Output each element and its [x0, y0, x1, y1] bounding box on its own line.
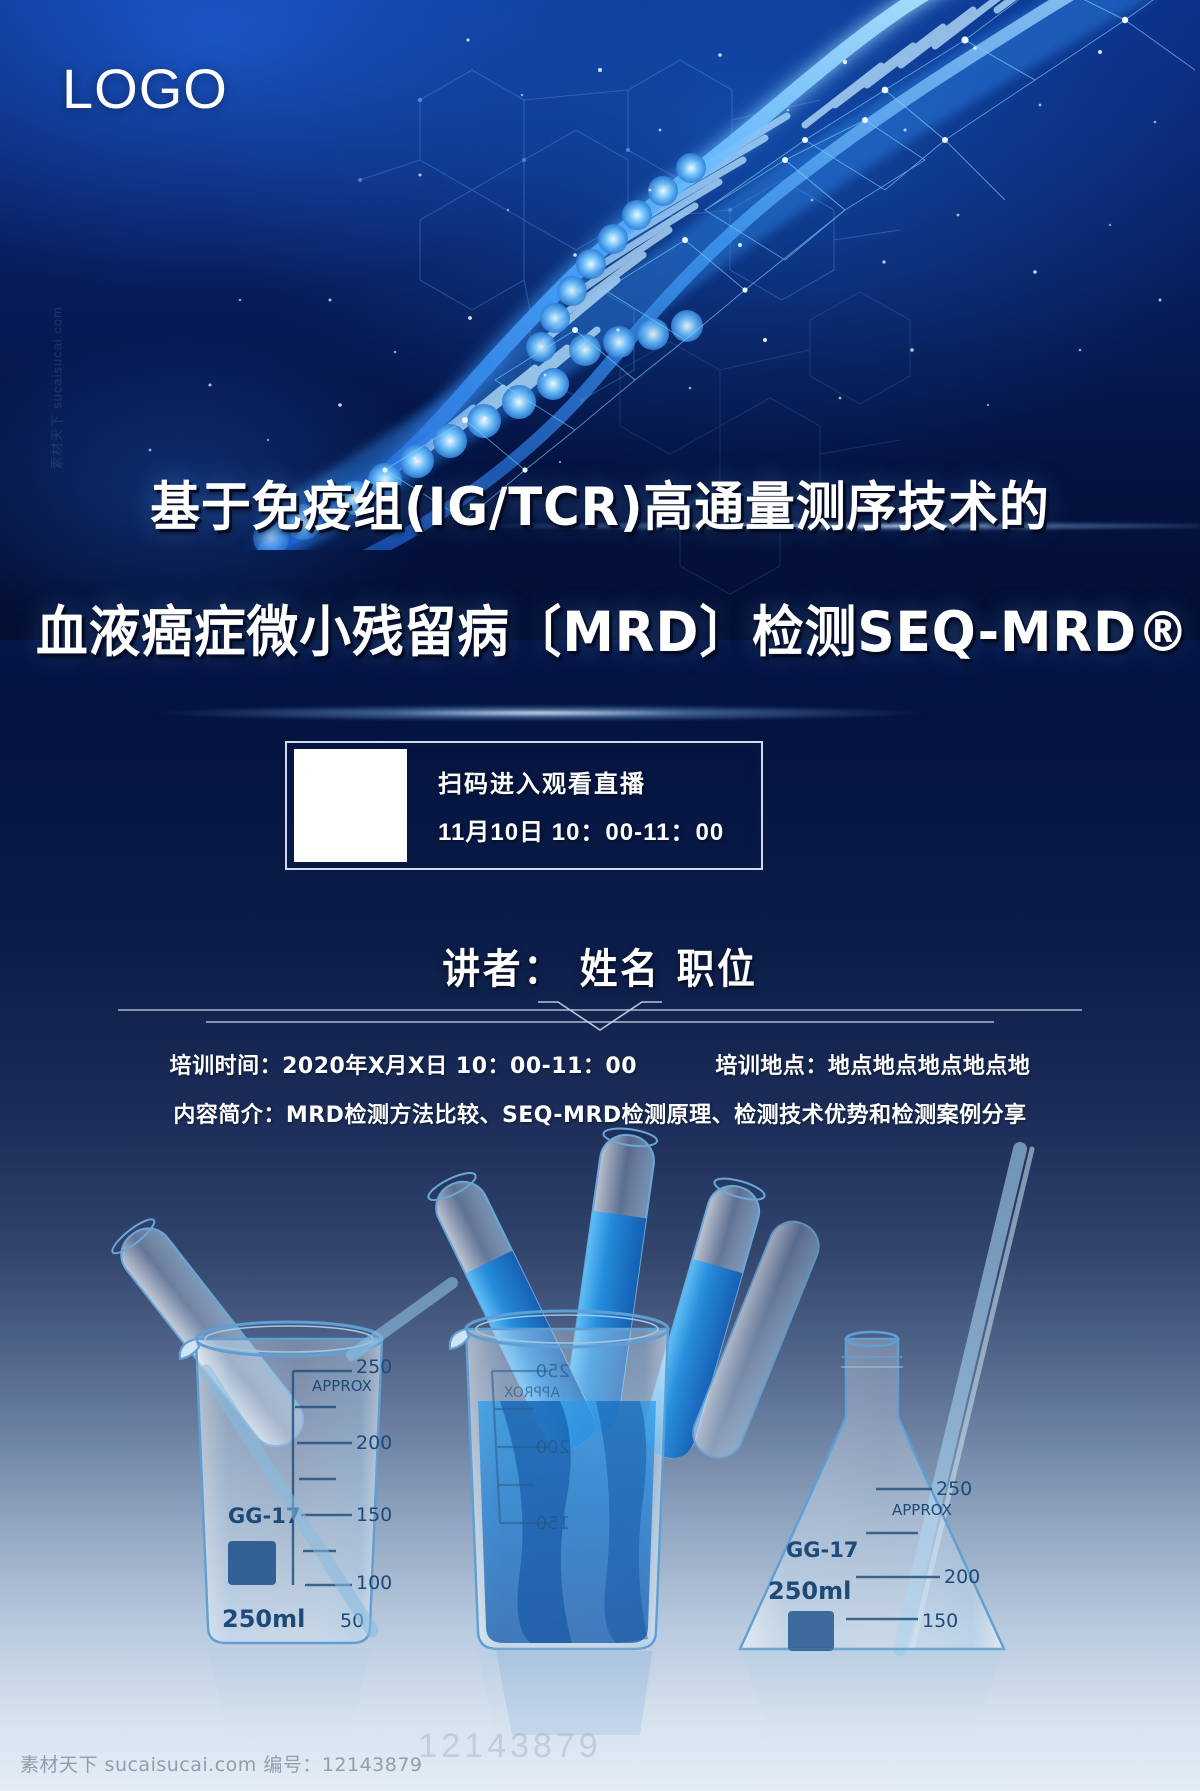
beaker-middle-mark-200: 200 [536, 1437, 570, 1458]
beaker-middle-mark-150: 150 [536, 1513, 570, 1534]
beaker-left-volume: 250ml [222, 1605, 305, 1633]
beaker-left-mark-250: 250 [356, 1356, 392, 1378]
qr-instruction-text: 扫码进入观看直播 [438, 764, 724, 799]
qr-text-block: 扫码进入观看直播 11月10日 10：00-11：00 [438, 764, 724, 847]
beaker-middle-mark-approx: APPROX [504, 1385, 560, 1401]
beaker-left-mark-200: 200 [356, 1432, 392, 1454]
flask-mark-200: 200 [944, 1566, 980, 1588]
poster-canvas: LOGO 基于免疫组(IG/TCR)高通量测序技术的 血液癌症微小残留病〔MRD… [0, 0, 1200, 1791]
flask-volume: 250ml [768, 1577, 851, 1605]
speaker-heading: 讲者： 姓名 职位 [48, 935, 1152, 995]
beaker-middle: 250 APPROX 200 150 [425, 1126, 826, 1649]
beaker-left-mark-approx: APPROX [312, 1377, 372, 1395]
watermark-left-edge: 素材天下 sucaisucai.com [47, 290, 66, 470]
watermark-bottom: 素材天下 sucaisucai.com 编号：12143879 [20, 1750, 423, 1777]
title-line-2: 血液癌症微小残留病〔MRD〕检测SEQ-MRD® [36, 587, 1164, 667]
qr-live-panel[interactable]: 扫码进入观看直播 11月10日 10：00-11：00 [285, 741, 763, 870]
flask-brand: GG-17 [786, 1538, 858, 1562]
title-line-1: 基于免疫组(IG/TCR)高通量测序技术的 [36, 465, 1164, 541]
beaker-left: 250 APPROX 200 150 100 50 GG-17 250ml [109, 1215, 452, 1643]
flask-mark-250: 250 [936, 1478, 972, 1500]
qr-code-image[interactable] [294, 749, 407, 862]
light-streak-lower [0, 700, 1200, 726]
qr-schedule-text: 11月10日 10：00-11：00 [438, 812, 724, 847]
poster-title-block: 基于免疫组(IG/TCR)高通量测序技术的 血液癌症微小残留病〔MRD〕检测SE… [0, 465, 1200, 667]
flask-mark-150: 150 [922, 1610, 958, 1632]
decorative-divider [118, 1000, 1082, 1036]
laboratory-glassware-image: 250 APPROX 200 150 100 50 GG-17 250ml [0, 1071, 1200, 1791]
beaker-left-mark-150: 150 [356, 1504, 392, 1526]
beaker-middle-mark-250: 250 [536, 1361, 570, 1382]
flask-mark-approx: APPROX [892, 1501, 952, 1519]
beaker-left-mark-100: 100 [356, 1572, 392, 1594]
logo-text: LOGO [62, 56, 228, 121]
